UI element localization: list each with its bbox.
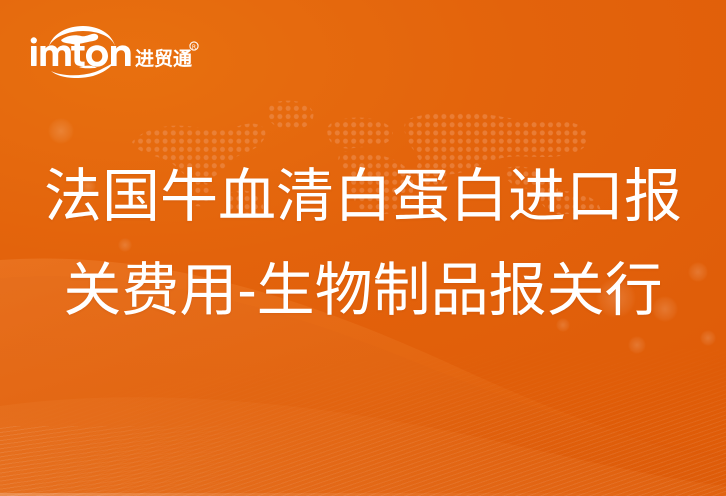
brand-logo: 进贸通 R: [27, 24, 217, 78]
headline-line-1: 法国牛血清白蛋白进口报: [0, 168, 726, 226]
svg-text:进贸通: 进贸通: [135, 47, 193, 70]
headline-line-2: 关费用-生物制品报关行: [0, 262, 726, 320]
logo-chinese-name: 进贸通: [135, 47, 193, 70]
promo-banner: 进贸通 R 法国牛血清白蛋白进口报 关费用-生物制品报关行: [0, 0, 726, 496]
registered-mark-icon: R: [190, 42, 198, 51]
headline: 法国牛血清白蛋白进口报 关费用-生物制品报关行: [0, 168, 726, 320]
svg-text:R: R: [192, 44, 196, 51]
